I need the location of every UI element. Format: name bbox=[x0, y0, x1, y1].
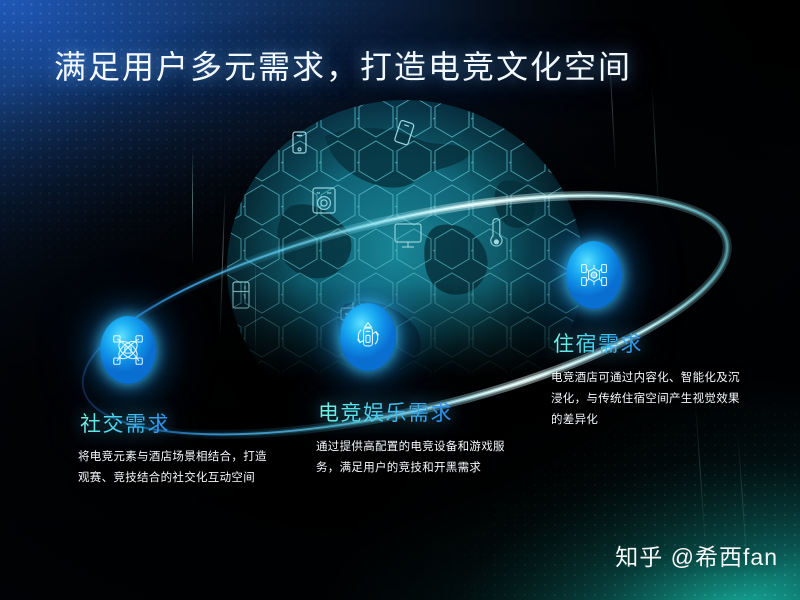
slide-canvas: 满足用户多元需求，打造电竞文化空间 社交需求 将电竞元素与酒店场景相结合，打造观… bbox=[0, 0, 800, 600]
esports-body: 通过提供高配置的电竞设备和游戏服务，满足用户的竞技和开黑需求 bbox=[316, 437, 512, 479]
network-nodes-icon bbox=[111, 333, 145, 367]
stay-badge[interactable] bbox=[566, 241, 622, 309]
esports-title: 电竞娱乐需求 bbox=[318, 397, 453, 427]
stay-title: 住宿需求 bbox=[553, 328, 643, 358]
watermark: 知乎 @希西fan bbox=[615, 538, 778, 572]
social-badge[interactable] bbox=[100, 316, 156, 384]
social-title: 社交需求 bbox=[80, 408, 170, 438]
social-body: 将电竞元素与酒店场景相结合，打造观赛、竞技结合的社交化互动空间 bbox=[78, 447, 274, 489]
slide-title: 满足用户多元需求，打造电竞文化空间 bbox=[54, 42, 632, 88]
smart-room-hub-icon bbox=[577, 258, 611, 292]
gamepad-refresh-icon bbox=[351, 320, 385, 354]
background-dot-pattern-right bbox=[0, 0, 800, 600]
esports-badge[interactable] bbox=[340, 303, 396, 371]
stay-body: 电竞酒店可通过内容化、智能化及沉浸化，与传统住宿空间产生视觉效果的差异化 bbox=[551, 368, 747, 431]
